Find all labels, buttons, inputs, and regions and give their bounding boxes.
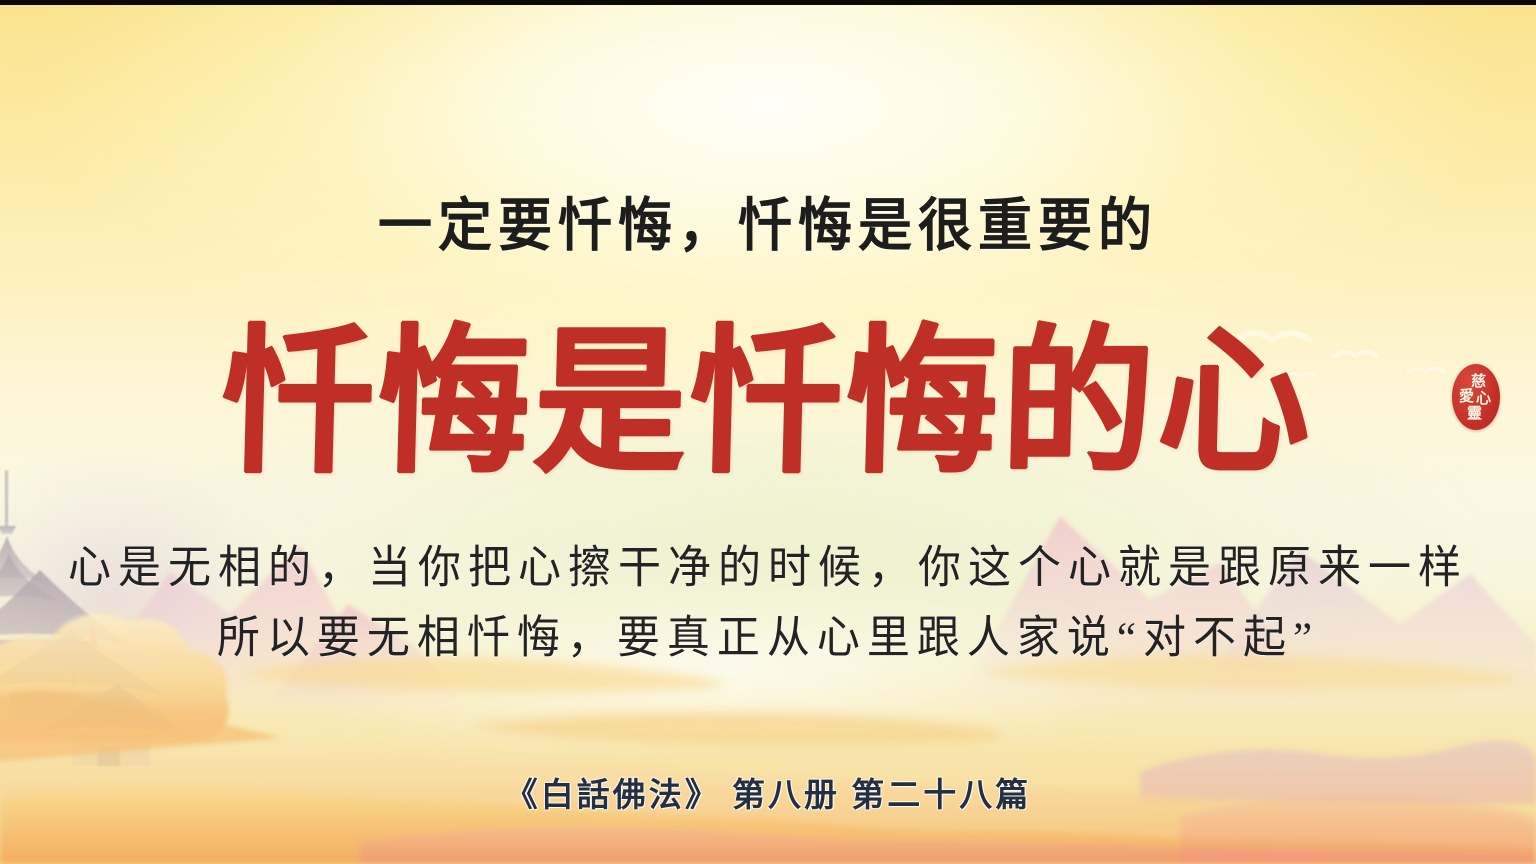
subtitle-text: 一定要忏悔，忏悔是很重要的 xyxy=(0,196,1536,256)
body-line-2: 所以要无相忏悔，要真正从心里跟人家说“对不起” xyxy=(0,603,1536,676)
seal-stamp-icon: 慈 愛 心 靈 xyxy=(1452,364,1500,430)
top-letterbox-bar xyxy=(0,0,1536,5)
seal-char-2: 愛 xyxy=(1459,390,1474,405)
seal-characters: 慈 愛 心 靈 xyxy=(1452,364,1500,430)
body-text-block: 心是无相的，当你把心擦干净的时候，你这个心就是跟原来一样 所以要无相忏悔，要真正… xyxy=(0,534,1536,674)
poster-content: 一定要忏悔，忏悔是很重要的 忏悔是忏悔的心 心是无相的，当你把心擦干净的时候，你… xyxy=(0,0,1536,864)
body-line-1: 心是无相的，当你把心擦干净的时候，你这个心就是跟原来一样 xyxy=(0,533,1536,606)
seal-char-4: 靈 xyxy=(1467,407,1482,422)
poster-slide: 一定要忏悔，忏悔是很重要的 忏悔是忏悔的心 心是无相的，当你把心擦干净的时候，你… xyxy=(0,0,1536,864)
source-citation: 《白話佛法》 第八册 第二十八篇 xyxy=(0,768,1536,816)
headline-text: 忏悔是忏悔的心 xyxy=(0,323,1536,481)
seal-char-3: 心 xyxy=(1476,392,1491,407)
seal-char-1: 慈 xyxy=(1471,375,1486,390)
